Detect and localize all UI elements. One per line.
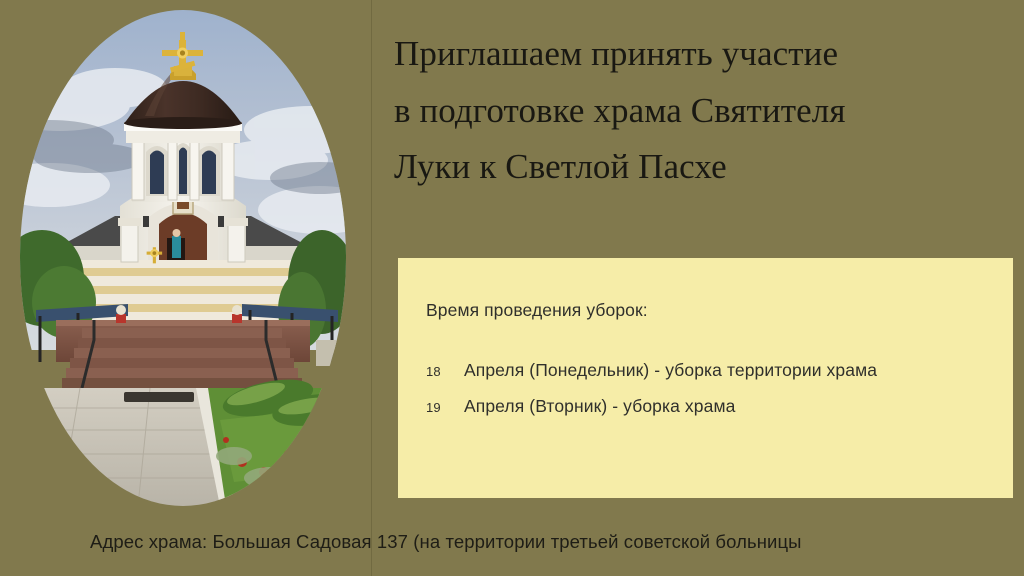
church-illustration: [20, 10, 346, 506]
title-line-3: Луки к Светлой Пасхе: [394, 139, 1008, 196]
schedule-day-number: 18: [426, 364, 464, 379]
title-line-2: в подготовке храма Святителя: [394, 83, 1008, 140]
page-title: Приглашаем принять участие в подготовке …: [394, 26, 1008, 196]
schedule-day-text: Апреля (Вторник) - уборка храма: [464, 396, 735, 417]
church-photo: [20, 10, 346, 506]
church-address: Адрес храма: Большая Садовая 137 (на тер…: [90, 531, 802, 553]
title-line-1: Приглашаем принять участие: [394, 26, 1008, 83]
schedule-card: Время проведения уборок: 18 Апреля (Поне…: [398, 258, 1013, 498]
schedule-heading: Время проведения уборок:: [426, 300, 648, 321]
schedule-day-text: Апреля (Понедельник) - уборка территории…: [464, 360, 877, 381]
list-item: 19 Апреля (Вторник) - уборка храма: [426, 396, 986, 417]
slide: Приглашаем принять участие в подготовке …: [0, 0, 1024, 576]
vertical-divider: [371, 0, 372, 576]
list-item: 18 Апреля (Понедельник) - уборка террито…: [426, 360, 986, 381]
schedule-list: 18 Апреля (Понедельник) - уборка террито…: [426, 360, 986, 432]
schedule-day-number: 19: [426, 400, 464, 415]
